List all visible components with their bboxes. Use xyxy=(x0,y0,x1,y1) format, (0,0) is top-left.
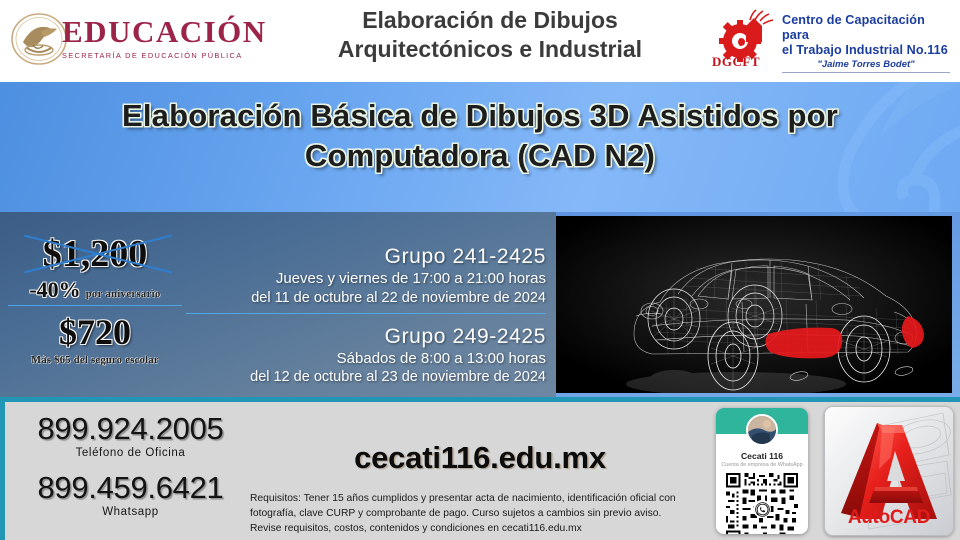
whatsapp-card-header xyxy=(716,408,808,434)
insurance-note: Más $65 del seguro escolar xyxy=(0,355,190,366)
sep-wordmark: EDUCACIÓN SECRETARÍA DE EDUCACIÓN PÚBLIC… xyxy=(62,16,267,60)
cecati-logo: DGCFT Centro de Capacitación para el Tra… xyxy=(710,6,952,76)
group-dates: del 11 de octubre al 22 de noviembre de … xyxy=(186,289,546,308)
cecati-text-block: Centro de Capacitación para el Trabajo I… xyxy=(782,13,950,73)
discount-note: por aniversario xyxy=(86,289,161,300)
group-name: Grupo 249-2425 xyxy=(186,324,546,349)
sep-subtitle: SECRETARÍA DE EDUCACIÓN PÚBLICA xyxy=(62,51,267,60)
group-hours: Jueves y viernes de 17:00 a 21:00 horas xyxy=(186,269,546,289)
mexican-coat-of-arms-icon xyxy=(8,10,70,72)
page-title-line2: Arquitectónicos e Industrial xyxy=(290,35,690,64)
banner-title-line1: Elaboración Básica de Dibujos 3D Asistid… xyxy=(0,96,960,136)
page-header: EDUCACIÓN SECRETARÍA DE EDUCACIÓN PÚBLIC… xyxy=(0,0,960,82)
whatsapp-phone-number[interactable]: 899.459.6421 xyxy=(8,471,253,505)
group-block: Grupo 241-2425 Jueves y viernes de 17:00… xyxy=(186,244,546,314)
dgcft-label: DGCFT xyxy=(712,54,760,70)
whatsapp-qr-code[interactable] xyxy=(724,471,800,534)
pricing-block: $1,200 -40% por aniversario $720 Más $65… xyxy=(0,232,190,377)
requirements-text: Requisitos: Tener 15 años cumplidos y pr… xyxy=(250,492,710,537)
page-title: Elaboración de Dibujos Arquitectónicos e… xyxy=(290,6,690,64)
left-accent-bar xyxy=(0,402,5,540)
whatsapp-phone-label: Whatsapp xyxy=(8,506,253,518)
autocad-logo: AutoCAD xyxy=(824,406,954,536)
whatsapp-icon xyxy=(753,500,771,518)
course-banner: Elaboración Básica de Dibujos 3D Asistid… xyxy=(0,82,960,212)
requirements-line3: Revise requisitos, costos, contenidos y … xyxy=(250,522,710,537)
discount-percent: -40% xyxy=(29,277,80,303)
discount-row: -40% por aniversario xyxy=(8,277,182,306)
group-dates: del 12 de octubre al 23 de noviembre de … xyxy=(186,368,546,387)
website-url[interactable]: cecati116.edu.mx xyxy=(255,440,705,476)
whatsapp-account-name: Cecati 116 xyxy=(716,451,808,461)
original-price-wrapper: $1,200 xyxy=(0,232,190,276)
cecati-line3: "Jaime Torres Bodet" xyxy=(782,59,950,70)
autocad-label: AutoCAD xyxy=(825,507,953,529)
requirements-line2: fotografía, clave CURP y comprobante de … xyxy=(250,507,710,522)
banner-title: Elaboración Básica de Dibujos 3D Asistid… xyxy=(0,96,960,175)
office-phone-number[interactable]: 899.924.2005 xyxy=(8,412,253,446)
group-hours: Sábados de 8:00 a 13:00 horas xyxy=(186,349,546,369)
group-name: Grupo 241-2425 xyxy=(186,244,546,269)
page-title-line1: Elaboración de Dibujos xyxy=(290,6,690,35)
whatsapp-business-card[interactable]: Cecati 116 Cuenta de empresa de WhatsApp xyxy=(716,408,808,534)
group-schedules: Grupo 241-2425 Jueves y viernes de 17:00… xyxy=(186,244,546,390)
3d-wireframe-car-image xyxy=(556,216,952,393)
section-divider xyxy=(0,397,960,402)
avatar xyxy=(746,414,778,446)
final-price: $720 xyxy=(0,312,190,353)
group-block: Grupo 249-2425 Sábados de 8:00 a 13:00 h… xyxy=(186,324,546,391)
office-phone-label: Teléfono de Oficina xyxy=(8,447,253,459)
cecati-line1: Centro de Capacitación para xyxy=(782,13,950,43)
cecati-divider xyxy=(782,72,950,73)
phone-numbers: 899.924.2005 Teléfono de Oficina 899.459… xyxy=(8,412,253,518)
flyer-canvas: EDUCACIÓN SECRETARÍA DE EDUCACIÓN PÚBLIC… xyxy=(0,0,960,540)
requirements-line1: Requisitos: Tener 15 años cumplidos y pr… xyxy=(250,492,710,507)
banner-title-line2: Computadora (CAD N2) xyxy=(0,136,960,176)
cecati-line2: el Trabajo Industrial No.116 xyxy=(782,43,950,58)
sep-title: EDUCACIÓN xyxy=(62,16,267,47)
whatsapp-account-subtitle: Cuenta de empresa de WhatsApp xyxy=(716,462,808,468)
